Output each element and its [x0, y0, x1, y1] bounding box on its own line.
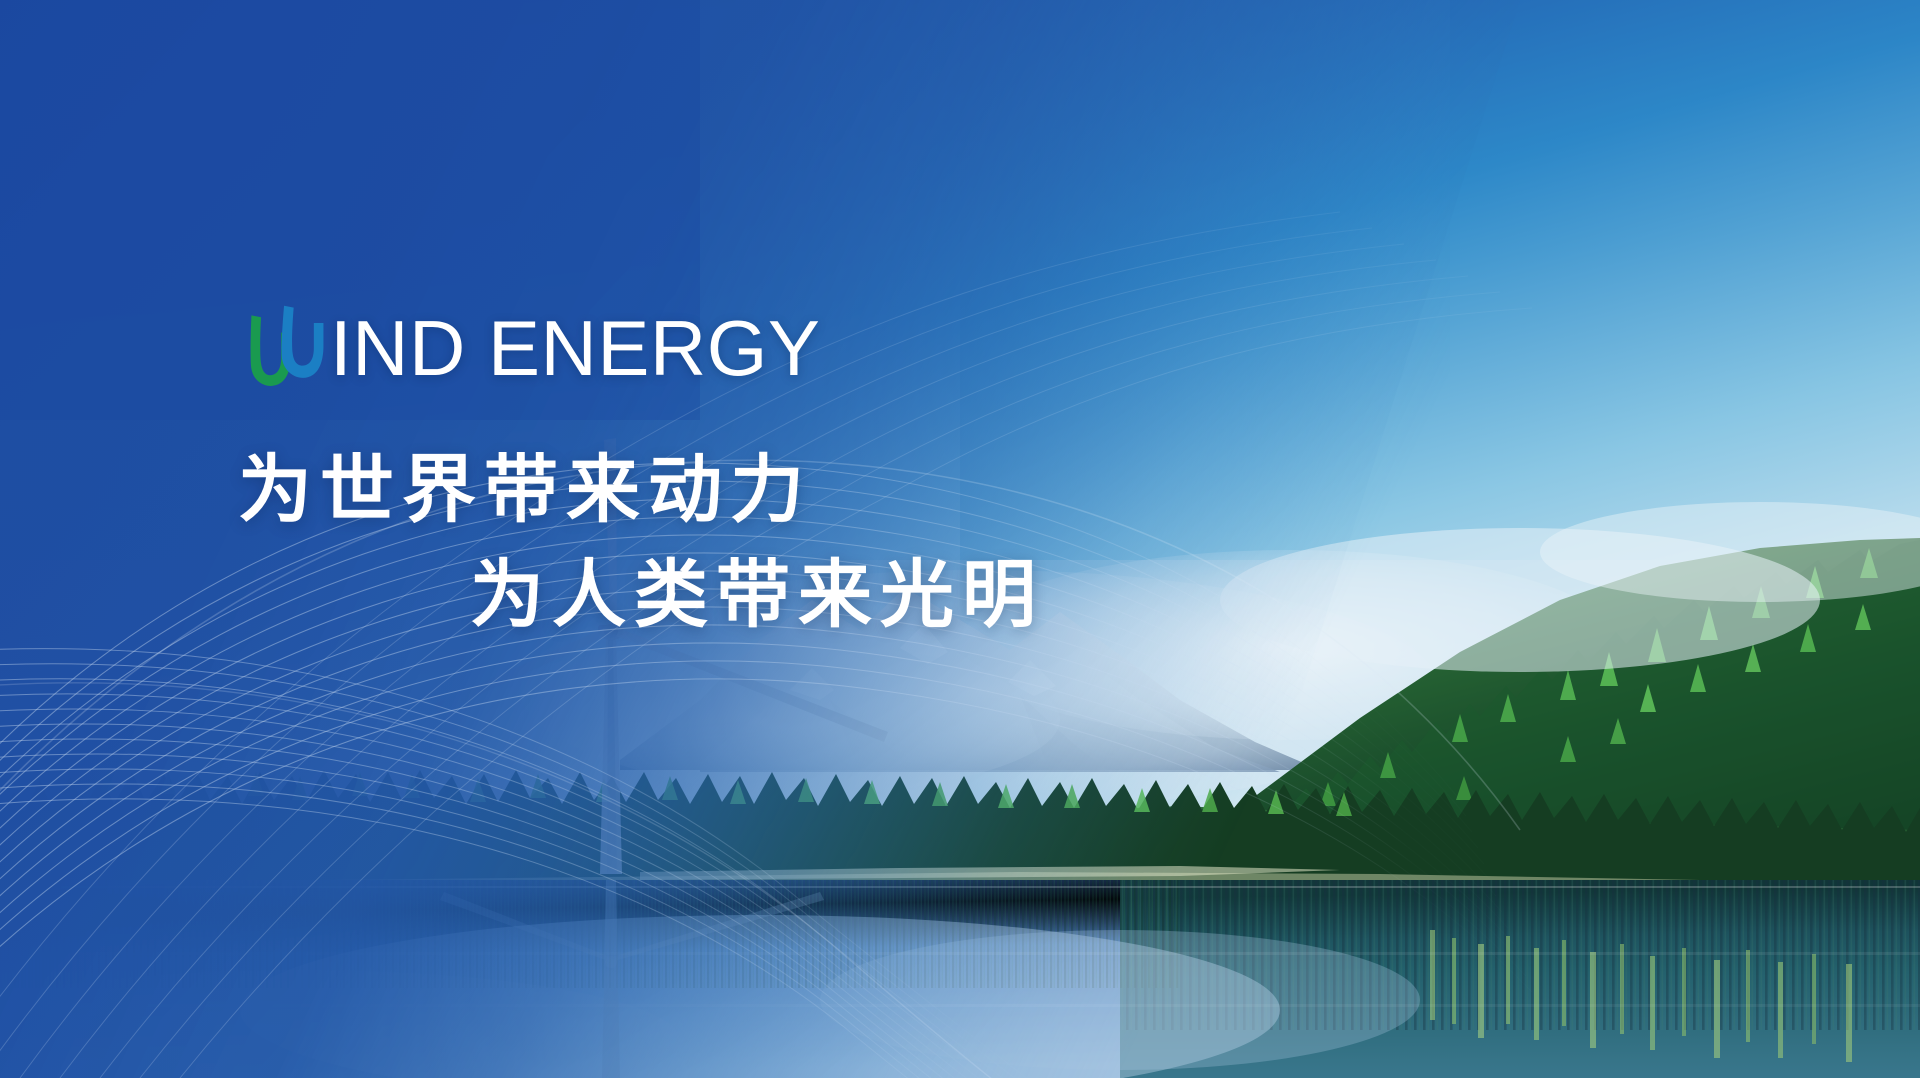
blue-gradient-overlay — [0, 0, 1920, 1078]
banner-root: IND ENERGY 为世界带来动力 为人类带来光明 — [0, 0, 1920, 1078]
